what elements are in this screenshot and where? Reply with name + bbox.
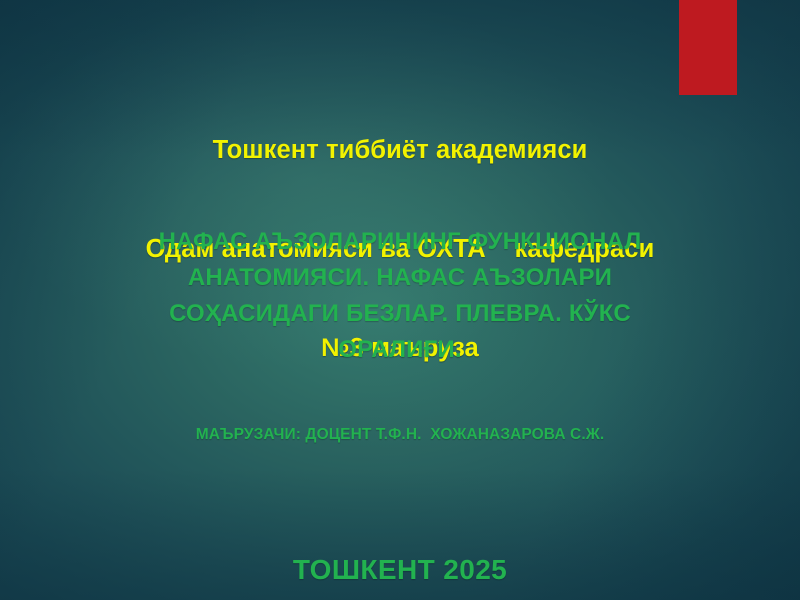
red-accent-bar (679, 0, 737, 95)
lecture-subject-line-2: АНАТОМИЯСИ. НАФАС АЪЗОЛАРИ (0, 260, 800, 296)
lecture-subject-line-3: СОҲАСИДАГИ БЕЗЛАР. ПЛЕВРА. КЎКС (0, 296, 800, 332)
lecture-subject-heading: НАФАС АЪЗОЛАРИНИНГ ФУНКЦИОНАЛ АНАТОМИЯСИ… (0, 224, 800, 368)
presenter-line: МАЪРУЗАЧИ: ДОЦЕНТ Т.Ф.Н. ХОЖАНАЗАРОВА С.… (0, 424, 800, 445)
lecture-subject-line-1: НАФАС АЪЗОЛАРИНИНГ ФУНКЦИОНАЛ (0, 224, 800, 260)
title-slide: Тошкент тиббиёт академияси Одам анатомия… (0, 0, 800, 600)
city-year-footer: ТОШКЕНТ 2025 (0, 552, 800, 588)
lecture-subject-line-4: ОРАЛИҒИ. (0, 332, 800, 368)
institution-title-line-1: Тошкент тиббиёт академияси (0, 134, 800, 167)
